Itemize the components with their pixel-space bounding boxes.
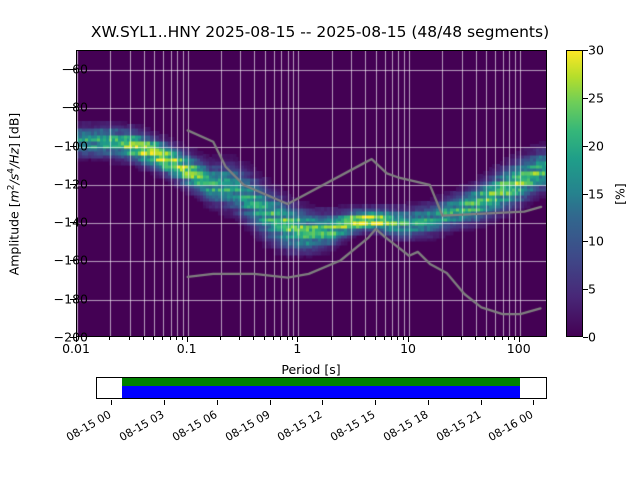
x-tick-label: 10 (400, 341, 416, 356)
x-axis-label: Period [s] (281, 362, 340, 377)
x-tick-label: 1 (293, 341, 301, 356)
x-tick-label: 100 (507, 341, 531, 356)
x-tick-mark-minor (403, 337, 404, 340)
x-tick-mark-minor (475, 337, 476, 340)
x-tick-mark-minor (502, 337, 503, 340)
x-tick-mark-minor (494, 337, 495, 340)
x-tick-label: 0.01 (62, 341, 90, 356)
y-tick-mark (70, 184, 76, 185)
timeline-band-blue (122, 386, 521, 398)
timeline-tick-label: 08-15 06 (170, 408, 219, 444)
x-tick-mark-minor (273, 337, 274, 340)
colorbar-tick-label: 0 (588, 330, 596, 345)
y-tick-mark (70, 146, 76, 147)
timeline-tick-mark (322, 400, 323, 405)
timeline-tick-mark (164, 400, 165, 405)
x-tick-mark-minor (264, 337, 265, 340)
timeline-tick-label: 08-15 00 (65, 408, 114, 444)
y-label-sup-2: 4 (6, 168, 16, 174)
x-tick-mark-minor (485, 337, 486, 340)
colorbar-tick-label: 5 (588, 282, 596, 297)
timeline-tick-mark (375, 400, 376, 405)
x-tick-mark-minor (176, 337, 177, 340)
timeline-band-green (122, 378, 521, 386)
x-tick-mark-minor (384, 337, 385, 340)
y-label-unit-denominator: /Hz (7, 148, 22, 168)
data-coverage-timeline[interactable] (96, 377, 547, 399)
timeline-tick-label: 08-15 12 (276, 408, 325, 444)
ppsd-figure: XW.SYL1..HNY 2025-08-15 -- 2025-08-15 (4… (0, 0, 640, 480)
colorbar-tick-mark (583, 337, 588, 338)
x-tick-mark-minor (514, 337, 515, 340)
x-tick-mark-minor (143, 337, 144, 340)
colorbar[interactable] (566, 50, 583, 337)
x-tick-mark-minor (292, 337, 293, 340)
timeline-tick-mark (270, 400, 271, 405)
y-tick-mark (70, 299, 76, 300)
timeline-tick-mark (481, 400, 482, 405)
x-tick-mark-minor (182, 337, 183, 340)
x-tick-mark-minor (508, 337, 509, 340)
colorbar-tick-label: 20 (588, 138, 604, 153)
ppsd-plot-area[interactable] (76, 50, 547, 337)
x-tick-mark-minor (162, 337, 163, 340)
y-tick-mark (70, 69, 76, 70)
y-label-unit-mid: /s (7, 174, 22, 185)
y-tick-mark (70, 222, 76, 223)
y-label-sup-1: 2 (6, 184, 16, 190)
x-tick-mark-minor (287, 337, 288, 340)
x-tick-mark-minor (280, 337, 281, 340)
timeline-tick-mark (217, 400, 218, 405)
x-tick-mark-minor (109, 337, 110, 340)
noise-model-curves-layer (77, 51, 547, 337)
colorbar-tick-mark (583, 98, 588, 99)
colorbar-tick-label: 25 (588, 90, 604, 105)
x-tick-mark-minor (461, 337, 462, 340)
y-label-prefix: Amplitude [ (7, 202, 22, 275)
x-tick-mark-minor (441, 337, 442, 340)
colorbar-tick-mark (583, 289, 588, 290)
timeline-tick-label: 08-15 15 (328, 408, 377, 444)
x-tick-mark-minor (253, 337, 254, 340)
y-label-suffix: ] [dB] (7, 113, 22, 148)
y-tick-mark (70, 107, 76, 108)
x-tick-mark-minor (239, 337, 240, 340)
x-tick-mark-minor (220, 337, 221, 340)
x-tick-mark-minor (397, 337, 398, 340)
timeline-tick-label: 08-16 00 (487, 408, 536, 444)
x-tick-mark-minor (375, 337, 376, 340)
colorbar-tick-label: 15 (588, 186, 604, 201)
colorbar-tick-mark (583, 194, 588, 195)
x-tick-mark-minor (391, 337, 392, 340)
timeline-tick-mark (111, 400, 112, 405)
x-tick-mark-minor (153, 337, 154, 340)
timeline-tick-label: 08-15 21 (434, 408, 483, 444)
y-label-unit-numerator: m (7, 190, 22, 202)
timeline-tick-label: 08-15 03 (117, 408, 166, 444)
colorbar-label: [%] (613, 183, 628, 205)
colorbar-tick-label: 30 (588, 43, 604, 58)
y-tick-mark (70, 260, 76, 261)
colorbar-tick-label: 10 (588, 234, 604, 249)
timeline-tick-label: 08-15 18 (381, 408, 430, 444)
x-tick-mark-minor (331, 337, 332, 340)
x-tick-mark-minor (170, 337, 171, 340)
x-tick-mark-minor (364, 337, 365, 340)
timeline-tick-mark (533, 400, 534, 405)
x-tick-mark-minor (129, 337, 130, 340)
x-tick-mark-minor (350, 337, 351, 340)
colorbar-tick-mark (583, 50, 588, 51)
timeline-tick-label: 08-15 09 (223, 408, 272, 444)
y-axis-label: Amplitude [m2/s4/Hz] [dB] (6, 113, 21, 276)
colorbar-tick-mark (583, 241, 588, 242)
x-tick-label: 0.1 (177, 341, 197, 356)
colorbar-tick-mark (583, 146, 588, 147)
timeline-tick-mark (428, 400, 429, 405)
figure-title: XW.SYL1..HNY 2025-08-15 -- 2025-08-15 (4… (91, 23, 549, 41)
